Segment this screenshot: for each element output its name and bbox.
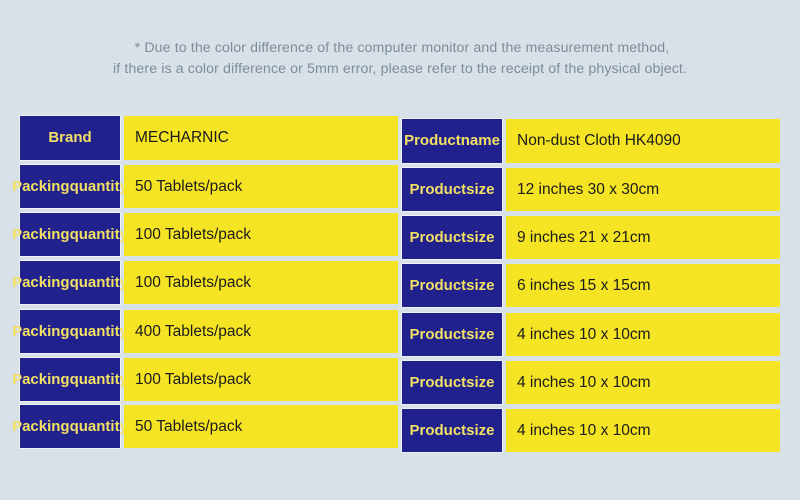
row-label-line-1: Packing	[12, 372, 70, 388]
row-value: 100 Tablets/pack	[124, 261, 398, 304]
row-value: 50 Tablets/pack	[124, 405, 398, 448]
row-label-line-1: Product	[404, 133, 461, 149]
row-value: 4 inches 10 x 10cm	[506, 313, 780, 356]
row-value: 12 inches 30 x 30cm	[506, 168, 780, 211]
row-label-line-1: Product	[409, 375, 466, 391]
row-label-line-1: Product	[409, 423, 466, 439]
row-label-line-2: size	[466, 375, 494, 391]
row-label: Brand	[20, 116, 120, 160]
product-spec-table: Product name Non-dust Cloth HK4090 Produ…	[402, 116, 780, 461]
row-value: 400 Tablets/pack	[124, 310, 398, 353]
row-value: 100 Tablets/pack	[124, 358, 398, 401]
row-label: Packing quantity	[20, 310, 120, 353]
table-row: Product size 4 inches 10 x 10cm	[402, 409, 780, 452]
row-label-line-1: Product	[409, 278, 466, 294]
row-label-line-1: Packing	[12, 227, 70, 243]
row-value: 50 Tablets/pack	[124, 165, 398, 208]
row-label: Packing quantity	[20, 165, 120, 208]
table-row: Packing quantity 100 Tablets/pack	[20, 261, 398, 304]
row-label-line-2: name	[461, 133, 500, 149]
row-value: 4 inches 10 x 10cm	[506, 361, 780, 404]
row-label: Packing quantity	[20, 261, 120, 304]
table-row: Packing quantity 400 Tablets/pack	[20, 310, 398, 353]
row-label-line-2: size	[466, 278, 494, 294]
row-label: Product size	[402, 168, 502, 211]
table-row: Packing quantity 50 Tablets/pack	[20, 405, 398, 448]
row-label-line-2: size	[466, 182, 494, 198]
row-value: 4 inches 10 x 10cm	[506, 409, 780, 452]
row-label: Product size	[402, 409, 502, 452]
table-row: Product size 12 inches 30 x 30cm	[402, 168, 780, 211]
row-label: Packing quantity	[20, 358, 120, 401]
row-label: Product name	[402, 119, 502, 163]
row-label: Product size	[402, 313, 502, 356]
table-row: Product size 4 inches 10 x 10cm	[402, 361, 780, 404]
row-label-line-1: Packing	[12, 179, 70, 195]
row-label-line-1: Packing	[12, 324, 70, 340]
row-label-line-1: Product	[409, 230, 466, 246]
row-label-line-1: Packing	[12, 419, 70, 435]
disclaimer-line-1: * Due to the color difference of the com…	[0, 38, 800, 59]
spec-tables: Brand MECHARNIC Packing quantity 50 Tabl…	[20, 116, 780, 461]
row-value: Non-dust Cloth HK4090	[506, 119, 780, 163]
row-label-line-2: quantity	[70, 372, 128, 388]
table-row: Product name Non-dust Cloth HK4090	[402, 119, 780, 163]
row-value: 6 inches 15 x 15cm	[506, 264, 780, 307]
row-label: Packing quantity	[20, 405, 120, 448]
disclaimer-note: * Due to the color difference of the com…	[0, 38, 800, 80]
table-row: Product size 4 inches 10 x 10cm	[402, 313, 780, 356]
table-row: Packing quantity 100 Tablets/pack	[20, 213, 398, 256]
row-value: MECHARNIC	[124, 116, 398, 160]
row-value: 100 Tablets/pack	[124, 213, 398, 256]
row-label-line-1: Product	[409, 327, 466, 343]
row-value: 9 inches 21 x 21cm	[506, 216, 780, 259]
table-row: Packing quantity 50 Tablets/pack	[20, 165, 398, 208]
row-label-line-1: Brand	[48, 130, 91, 146]
row-label-line-1: Packing	[12, 275, 70, 291]
row-label-line-1: Product	[409, 182, 466, 198]
row-label-line-2: quantity	[70, 179, 128, 195]
row-label-line-2: quantity	[70, 419, 128, 435]
row-label: Packing quantity	[20, 213, 120, 256]
row-label-line-2: size	[466, 327, 494, 343]
table-row: Product size 9 inches 21 x 21cm	[402, 216, 780, 259]
row-label-line-2: quantity	[70, 227, 128, 243]
row-label-line-2: size	[466, 423, 494, 439]
row-label-line-2: size	[466, 230, 494, 246]
row-label: Product size	[402, 361, 502, 404]
row-label: Product size	[402, 216, 502, 259]
row-label-line-2: quantity	[70, 324, 128, 340]
table-row: Packing quantity 100 Tablets/pack	[20, 358, 398, 401]
table-row: Brand MECHARNIC	[20, 116, 398, 160]
row-label-line-2: quantity	[70, 275, 128, 291]
table-row: Product size 6 inches 15 x 15cm	[402, 264, 780, 307]
disclaimer-line-2: if there is a color difference or 5mm er…	[0, 59, 800, 80]
row-label: Product size	[402, 264, 502, 307]
packing-spec-table: Brand MECHARNIC Packing quantity 50 Tabl…	[20, 116, 398, 461]
